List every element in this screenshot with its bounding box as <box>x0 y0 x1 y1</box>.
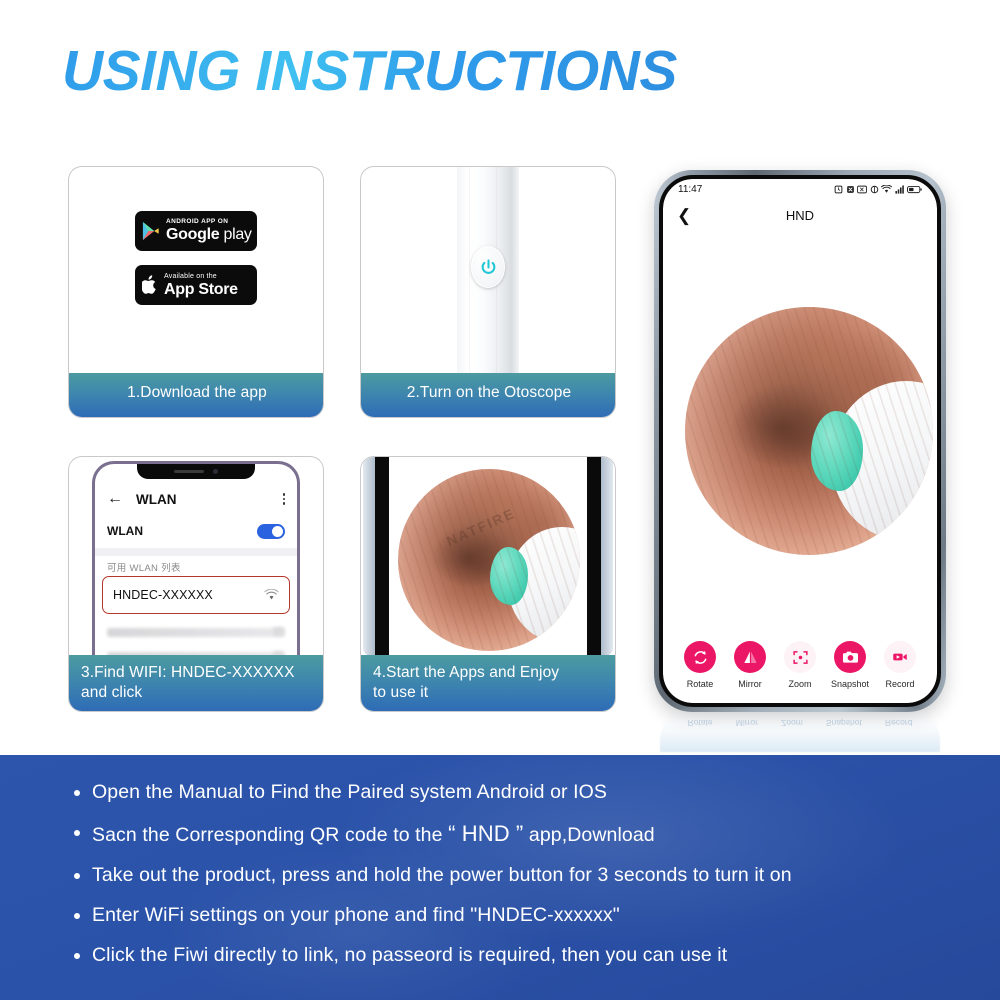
video-record-icon <box>884 641 916 673</box>
ssid-label: HNDEC-XXXXXX <box>113 588 213 602</box>
bullet-text: Click the Fiwi directly to link, no pass… <box>92 942 727 968</box>
google-play-badge[interactable]: ANDROID APP ON Google play <box>135 211 257 251</box>
bullet-text: Take out the product, press and hold the… <box>92 862 792 888</box>
app-store-text: Available on the App Store <box>164 273 238 298</box>
rotate-icon <box>684 641 716 673</box>
toolbar-label-record: Record <box>885 679 914 689</box>
wlan-settings-phone: ← WLAN WLAN 可用 WLAN 列表 HNDEC-XXXXXX <box>92 461 300 656</box>
step-card-find-wifi: ← WLAN WLAN 可用 WLAN 列表 HNDEC-XXXXXX <box>68 456 324 712</box>
step2-illustration <box>361 167 615 374</box>
probe-tip <box>811 411 863 491</box>
wlan-title: WLAN <box>136 492 177 507</box>
phone-screen: 11:47 <box>659 175 941 707</box>
battery-icon <box>907 185 922 194</box>
bullet-text: Open the Manual to Find the Paired syste… <box>92 779 607 805</box>
live-ear-view <box>685 307 933 555</box>
step3-caption-line2: and click <box>81 683 313 703</box>
phone-reflection <box>660 706 940 752</box>
probe-tip <box>490 547 528 605</box>
bullet-text-quoted: “ HND ” <box>448 821 523 846</box>
camera-icon <box>834 641 866 673</box>
phone-notch <box>137 464 255 479</box>
store-badges: ANDROID APP ON Google play Available on … <box>69 211 323 305</box>
reflection-label-snapshot: Snapshot <box>826 718 862 728</box>
instruction-poster: USING INSTRUCTIONS ANDROID APP ON Google… <box>0 0 1000 1000</box>
status-time: 11:47 <box>678 184 702 195</box>
google-play-text: ANDROID APP ON Google play <box>166 219 252 244</box>
status-bar: 11:47 <box>663 179 937 199</box>
front-camera <box>213 469 218 474</box>
google-play-supertext: ANDROID APP ON <box>166 219 252 226</box>
reflection-label-record: Record <box>885 718 912 728</box>
alarm-icon <box>834 185 843 194</box>
back-arrow-icon[interactable]: ← <box>107 491 123 507</box>
step-card-turn-on-otoscope: 2.Turn on the Otoscope <box>360 166 616 418</box>
phone-bezel-right <box>587 457 601 656</box>
footer-instructions: Open the Manual to Find the Paired syste… <box>0 755 1000 1000</box>
blurred-network-icon <box>273 627 284 636</box>
step-card-start-apps: NATFIRE 4.Start the Apps and Enjoy to us… <box>360 456 616 712</box>
step-card-download-app: ANDROID APP ON Google play Available on … <box>68 166 324 418</box>
step3-caption-line1: 3.Find WIFI: HNDEC-XXXXXX <box>81 663 313 683</box>
bullet-text-pre: Sacn the Corresponding QR code to the <box>92 824 448 846</box>
step1-caption: 1.Download the app <box>69 373 323 417</box>
toolbar-button-zoom[interactable]: Zoom <box>775 641 825 689</box>
location-icon <box>870 185 879 194</box>
app-screen: 11:47 <box>663 179 937 703</box>
wlan-toggle-row[interactable]: WLAN <box>95 516 297 546</box>
bullet-item: Enter WiFi settings on your phone and fi… <box>74 902 970 928</box>
apple-icon <box>142 275 158 295</box>
toolbar-label-mirror: Mirror <box>738 679 762 689</box>
step4-caption-line1: 4.Start the Apps and Enjoy <box>373 663 605 683</box>
app-title: HND <box>663 208 937 223</box>
highlighted-ssid-row[interactable]: HNDEC-XXXXXX <box>102 576 290 614</box>
probe-body <box>508 527 580 643</box>
otoscope-device <box>457 167 519 374</box>
bullet-dot-icon <box>74 913 80 919</box>
bullet-text-post: app,Download <box>523 824 654 846</box>
step4-caption: 4.Start the Apps and Enjoy to use it <box>361 655 615 711</box>
settings-divider <box>95 548 297 556</box>
bullet-dot-icon <box>74 873 80 879</box>
wlan-appbar: ← WLAN <box>95 484 297 514</box>
wifi-icon <box>264 589 279 601</box>
step2-caption: 2.Turn on the Otoscope <box>361 373 615 417</box>
kebab-menu-icon[interactable] <box>283 493 286 505</box>
toolbar-button-record[interactable]: Record <box>875 641 925 689</box>
wlan-toggle-label: WLAN <box>107 524 143 538</box>
step4-caption-line2: to use it <box>373 683 605 703</box>
step3-illustration: ← WLAN WLAN 可用 WLAN 列表 HNDEC-XXXXXX <box>69 457 323 656</box>
bullet-dot-icon <box>74 953 80 959</box>
toolbar-button-mirror[interactable]: Mirror <box>725 641 775 689</box>
bullet-item: Click the Fiwi directly to link, no pass… <box>74 942 970 968</box>
google-play-name: Google play <box>166 227 252 243</box>
step1-illustration: ANDROID APP ON Google play Available on … <box>69 167 323 374</box>
step4-illustration: NATFIRE <box>361 457 615 656</box>
bullet-dot-icon <box>74 830 80 836</box>
wifi-icon <box>881 185 892 194</box>
signal-icon <box>895 185 905 194</box>
probe-body <box>831 381 933 541</box>
reflection-label-rotate: Rotate <box>688 718 713 728</box>
earpiece-speaker <box>174 470 204 473</box>
app-preview-phone: 11:47 <box>654 170 946 712</box>
bluetooth-icon <box>857 185 867 194</box>
mute-icon <box>846 185 855 194</box>
google-play-icon <box>142 221 160 241</box>
toolbar-button-rotate[interactable]: Rotate <box>675 641 725 689</box>
bullet-item: Sacn the Corresponding QR code to the “ … <box>74 819 970 849</box>
phone-reflection-labels: Rotate Mirror Zoom Snapshot Record <box>676 718 924 728</box>
app-store-supertext: Available on the <box>164 273 238 280</box>
toolbar-label-zoom: Zoom <box>788 679 811 689</box>
status-icons <box>834 185 922 194</box>
app-store-badge[interactable]: Available on the App Store <box>135 265 257 305</box>
camera-toolbar: Rotate Mirror <box>663 641 937 689</box>
back-chevron-icon[interactable]: ❮ <box>677 207 691 224</box>
phone-frame-left <box>363 457 375 656</box>
available-networks-label: 可用 WLAN 列表 <box>107 560 181 574</box>
bullet-list: Open the Manual to Find the Paired syste… <box>74 779 970 981</box>
toolbar-label-snapshot: Snapshot <box>831 679 869 689</box>
reflection-label-zoom: Zoom <box>781 718 803 728</box>
bullet-text: Enter WiFi settings on your phone and fi… <box>92 902 620 928</box>
toolbar-button-snapshot[interactable]: Snapshot <box>825 641 875 689</box>
reflection-label-mirror: Mirror <box>736 718 758 728</box>
phone-frame-right <box>601 457 613 656</box>
toolbar-label-rotate: Rotate <box>687 679 714 689</box>
power-icon <box>479 258 498 277</box>
wlan-toggle-switch[interactable] <box>257 524 285 539</box>
app-store-name: App Store <box>164 282 238 298</box>
mirror-icon <box>734 641 766 673</box>
bullet-dot-icon <box>74 790 80 796</box>
blurred-network-row <box>107 628 285 637</box>
zoom-focus-icon <box>784 641 816 673</box>
ear-canal-image <box>398 469 580 651</box>
bullet-item: Open the Manual to Find the Paired syste… <box>74 779 970 805</box>
bullet-item: Take out the product, press and hold the… <box>74 862 970 888</box>
bullet-text: Sacn the Corresponding QR code to the “ … <box>92 819 655 849</box>
phone-bezel-left <box>375 457 389 656</box>
app-bar: ❮ HND <box>663 201 937 229</box>
page-title: USING INSTRUCTIONS <box>62 38 677 104</box>
step3-caption: 3.Find WIFI: HNDEC-XXXXXX and click <box>69 655 323 711</box>
power-button[interactable] <box>471 246 505 288</box>
